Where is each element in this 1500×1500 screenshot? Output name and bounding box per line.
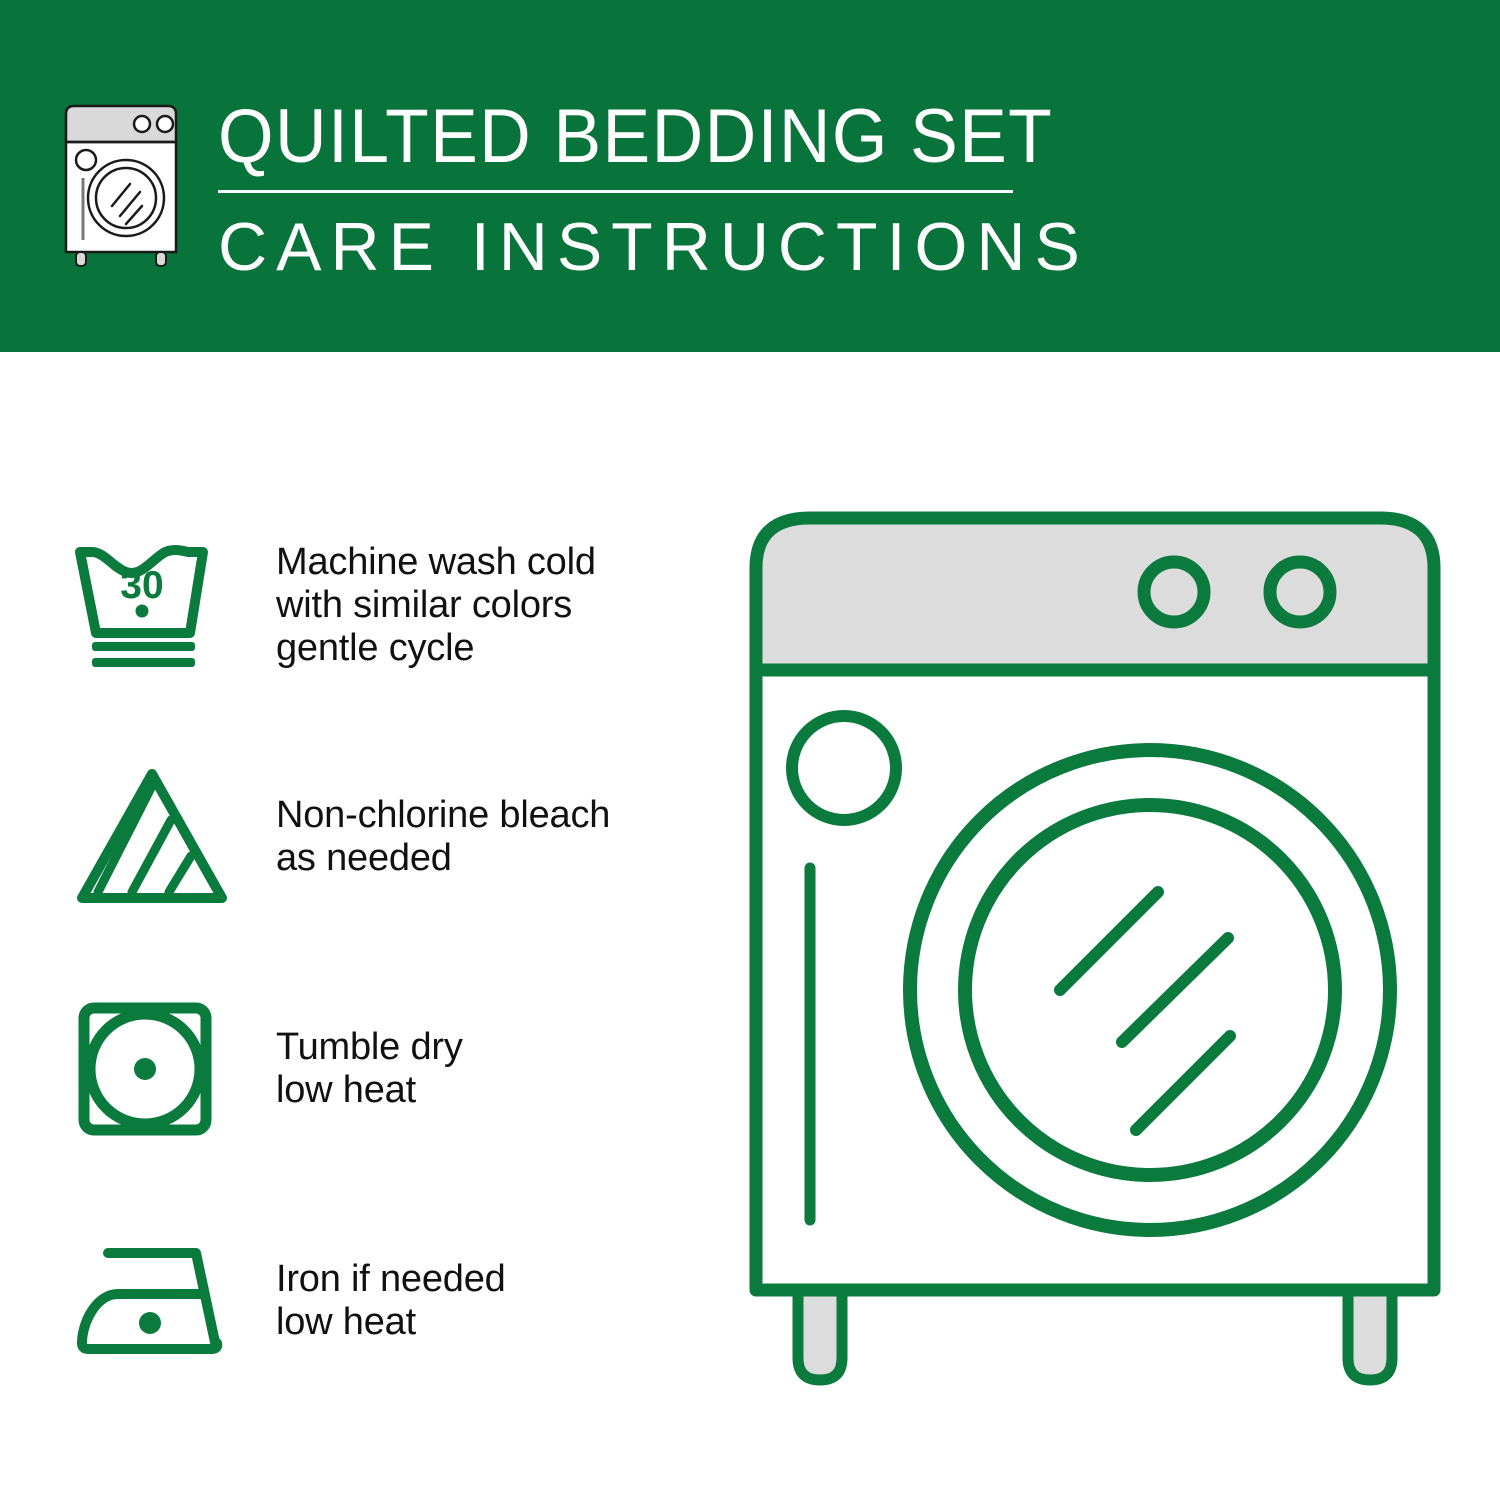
care-row-tumble-dry: Tumble dry low heat <box>70 969 730 1169</box>
care-line: as needed <box>276 837 610 880</box>
care-instruction-list: 30 Machine wash cold with similar colors… <box>70 505 730 1401</box>
control-knob-right[interactable] <box>1270 562 1330 622</box>
tumble-dry-icon-wrap <box>70 989 250 1149</box>
header-title-group: QUILTED BEDDING SET CARE INSTRUCTIONS <box>218 92 1107 287</box>
iron-icon-wrap <box>70 1221 250 1381</box>
care-text-wash: Machine wash cold with similar colors ge… <box>276 541 596 670</box>
care-line: Machine wash cold <box>276 541 596 584</box>
washing-machine-icon <box>58 98 198 268</box>
care-row-bleach: Non-chlorine bleach as needed <box>70 737 730 937</box>
page-subtitle: CARE INSTRUCTIONS <box>218 207 1107 287</box>
detergent-dispenser-icon <box>792 716 896 820</box>
tumble-dry-icon <box>70 994 220 1144</box>
wash-tub-30-icon: 30 <box>70 538 235 673</box>
care-line: Iron if needed <box>276 1258 506 1301</box>
care-text-iron: Iron if needed low heat <box>276 1258 506 1344</box>
care-instructions-page: QUILTED BEDDING SET CARE INSTRUCTIONS 30 <box>0 0 1500 1500</box>
iron-icon <box>70 1239 245 1364</box>
care-line: low heat <box>276 1301 506 1344</box>
care-text-bleach: Non-chlorine bleach as needed <box>276 794 610 880</box>
header-content: QUILTED BEDDING SET CARE INSTRUCTIONS <box>58 92 1107 287</box>
care-text-tumble-dry: Tumble dry low heat <box>276 1026 463 1112</box>
care-line: gentle cycle <box>276 627 596 670</box>
care-line: low heat <box>276 1069 463 1112</box>
washing-machine-illustration <box>740 490 1460 1420</box>
control-knob-left[interactable] <box>1144 562 1204 622</box>
title-divider <box>218 190 1013 193</box>
wash-tub-30-icon-wrap: 30 <box>70 525 250 685</box>
header-banner: QUILTED BEDDING SET CARE INSTRUCTIONS <box>0 0 1500 352</box>
care-line: Tumble dry <box>276 1026 463 1069</box>
care-line: Non-chlorine bleach <box>276 794 610 837</box>
care-row-iron: Iron if needed low heat <box>70 1201 730 1401</box>
care-line: with similar colors <box>276 584 596 627</box>
bleach-triangle-icon-wrap <box>70 757 250 917</box>
page-title: QUILTED BEDDING SET <box>218 96 1053 178</box>
care-row-wash: 30 Machine wash cold with similar colors… <box>70 505 730 705</box>
bleach-triangle-icon <box>70 762 235 912</box>
wash-temperature-label: 30 <box>120 564 163 607</box>
